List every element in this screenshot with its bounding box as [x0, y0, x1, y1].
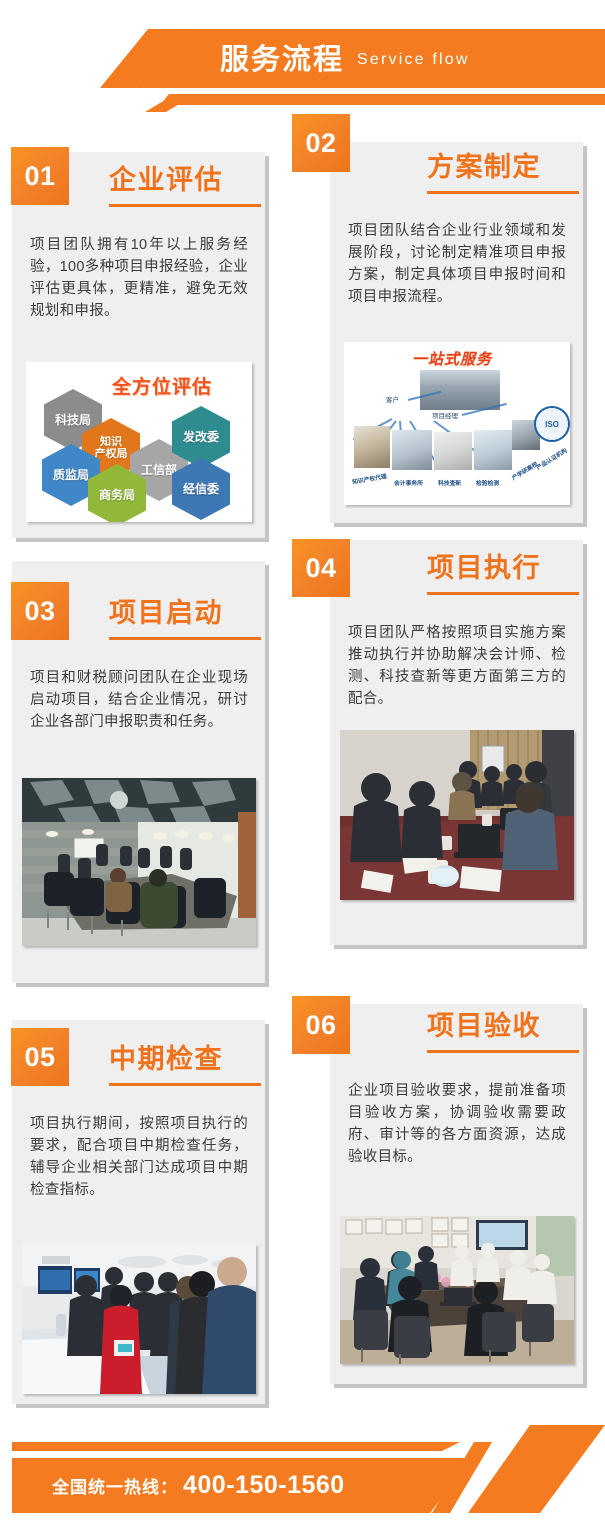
- page-title-en: Service flow: [357, 52, 470, 68]
- title-underline: [427, 191, 579, 194]
- step-description: 项目团队严格按照项目实施方案推动执行并协助解决会计师、检测、科技查新等更方面第三…: [348, 622, 566, 710]
- title-underline: [109, 1083, 261, 1086]
- page-title: 服务流程 Service flow: [220, 36, 600, 84]
- page-title-cn: 服务流程: [220, 46, 344, 75]
- step-description: 项目和财税顾问团队在企业现场启动项目，结合企业情况，研讨企业各部门申报职责和任务…: [30, 667, 248, 733]
- step-number-badge: 04: [292, 539, 350, 597]
- lab-thumb: [474, 430, 512, 470]
- title-underline: [427, 592, 579, 595]
- step-title: 方案制定: [427, 154, 541, 181]
- photo-artwork: [340, 1216, 574, 1364]
- foot-node-novelty: 科技查新: [438, 478, 461, 487]
- page-header: 服务流程 Service flow: [0, 0, 605, 112]
- header-chevron-icon: [100, 29, 215, 112]
- step-title: 项目执行: [427, 555, 541, 582]
- books-thumb: [354, 426, 390, 468]
- title-underline: [109, 637, 261, 640]
- step-description: 项目团队结合企业行业领域和发展阶段，讨论制定精准项目申报方案，制定具体项目申报时…: [348, 220, 566, 308]
- foot-node-inspection: 检验检测: [476, 478, 499, 487]
- node-project-manager: 项目经理: [432, 410, 458, 420]
- site-visit-photo: [22, 1244, 256, 1394]
- header-stripe: [160, 94, 605, 105]
- step-number-badge: 06: [292, 996, 350, 1054]
- meeting-thumb: [420, 370, 500, 410]
- step-number-badge: 05: [11, 1028, 69, 1086]
- hexagon-evaluation-chart: 全方位评估 科技局 知识产权局 质监局 工信部 商务局 发改委 经信委: [26, 362, 252, 522]
- step-card-02[interactable]: 02 方案制定 项目团队结合企业行业领域和发展阶段，讨论制定精准项目申报方案，制…: [330, 142, 583, 523]
- page-footer: 全国统一热线： 400-150-1560: [0, 1403, 605, 1538]
- step-description: 企业项目验收要求，提前准备项目验收方案，协调验收需要政府、审计等的各方面资源，达…: [348, 1080, 566, 1168]
- step-card-01[interactable]: 01 企业评估 项目团队拥有10年以上服务经验，100多种项目申报经验，企业评估…: [12, 152, 265, 538]
- hotline-label: 全国统一热线：: [52, 1473, 178, 1498]
- step-title: 中期检查: [109, 1046, 223, 1073]
- photo-artwork: [22, 1244, 256, 1394]
- foot-node-ip: 知识产权代理: [351, 471, 387, 486]
- step-number-badge: 02: [292, 114, 350, 172]
- conference-room-photo: [22, 778, 256, 946]
- step-description: 项目团队拥有10年以上服务经验，100多种项目申报经验，企业评估更具体，更精准，…: [30, 234, 248, 322]
- hex-chart-title: 全方位评估: [112, 372, 212, 399]
- step-card-05[interactable]: 05 中期检查 项目执行期间，按照项目执行的要求，配合项目中期检查任务，辅导企业…: [12, 1020, 265, 1404]
- office-thumb: [392, 430, 432, 470]
- step-number-badge: 03: [11, 582, 69, 640]
- one-stop-service-diagram: 一站式服务 客户 项目经理 ISO 知识产权代理 会计事务所 科技查新 检验检测…: [344, 342, 570, 505]
- step-description: 项目执行期间，按照项目执行的要求，配合项目中期检查任务，辅导企业相关部门达成项目…: [30, 1113, 248, 1201]
- step-title: 项目验收: [427, 1013, 541, 1040]
- footer-slash-large: [468, 1425, 605, 1513]
- hotline: 全国统一热线： 400-150-1560: [52, 1458, 345, 1513]
- acceptance-meeting-photo: [340, 1216, 574, 1364]
- step-card-03[interactable]: 03 项目启动 项目和财税顾问团队在企业现场启动项目，结合企业情况，研讨企业各部…: [12, 561, 265, 983]
- foot-node-accounting: 会计事务所: [394, 478, 423, 487]
- service-flow-infographic: 服务流程 Service flow 01 企业评估 项目团队拥有10年以上服务经…: [0, 0, 605, 1538]
- step-card-06[interactable]: 06 项目验收 企业项目验收要求，提前准备项目验收方案，协调验收需要政府、审计等…: [330, 1004, 583, 1384]
- title-underline: [427, 1050, 579, 1053]
- step-title: 项目启动: [109, 600, 223, 627]
- photo-artwork: [22, 778, 256, 946]
- photo-artwork: [340, 730, 574, 900]
- title-underline: [109, 204, 261, 207]
- footer-stripe: [12, 1442, 460, 1451]
- step-number-badge: 01: [11, 147, 69, 205]
- step-title: 企业评估: [109, 167, 223, 194]
- hotline-number[interactable]: 400-150-1560: [183, 1471, 345, 1500]
- node-customer: 客户: [386, 394, 399, 404]
- documents-thumb: [434, 432, 472, 470]
- one-stop-title: 一站式服务: [412, 348, 492, 369]
- step-card-04[interactable]: 04 项目执行 项目团队严格按照项目实施方案推动执行并协助解决会计师、检测、科技…: [330, 540, 583, 945]
- meeting-working-photo: [340, 730, 574, 900]
- iso-seal-icon: ISO: [534, 406, 570, 442]
